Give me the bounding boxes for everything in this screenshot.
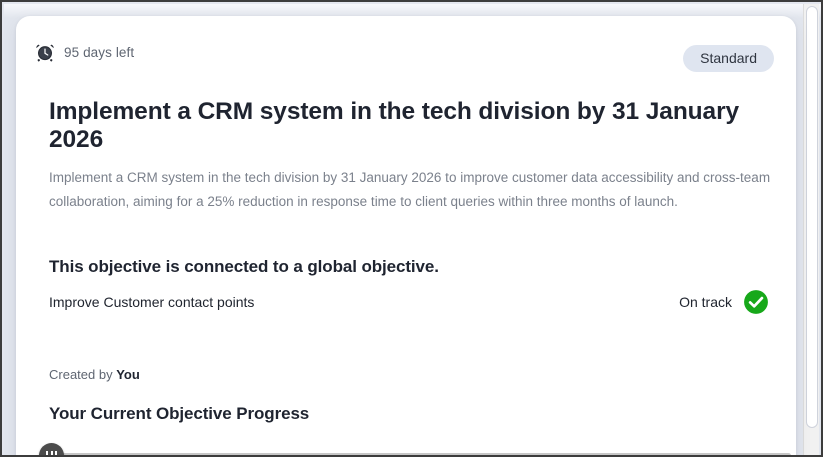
status-indicator: On track	[679, 289, 769, 315]
objective-card: 95 days left Standard Implement a CRM sy…	[16, 16, 796, 457]
linked-objective-name[interactable]: Improve Customer contact points	[49, 294, 254, 310]
status-label: On track	[679, 294, 732, 310]
vertical-scrollbar[interactable]	[803, 4, 819, 457]
progress-slider[interactable]: 0%25%50%75%100%	[49, 444, 791, 457]
card-header: 95 days left Standard	[35, 42, 774, 72]
plan-badge[interactable]: Standard	[683, 45, 774, 72]
created-by-prefix: Created by	[49, 367, 113, 382]
deadline-text: 95 days left	[64, 45, 134, 60]
grip-line	[51, 451, 53, 457]
alarm-clock-icon	[35, 42, 55, 62]
progress-heading: Your Current Objective Progress	[49, 404, 774, 424]
linked-objective-row: Improve Customer contact points On track	[49, 289, 774, 315]
deadline-indicator: 95 days left	[35, 42, 134, 62]
grip-line	[46, 451, 48, 457]
linked-objective-heading: This objective is connected to a global …	[49, 257, 774, 277]
grip-line	[55, 451, 57, 457]
scrollbar-thumb[interactable]	[806, 6, 818, 428]
created-by: Created by You	[49, 367, 774, 382]
slider-track[interactable]	[49, 453, 791, 457]
objective-description: Implement a CRM system in the tech divis…	[49, 166, 774, 212]
created-by-author: You	[116, 367, 140, 382]
check-circle-icon	[743, 289, 769, 315]
slider-handle[interactable]	[39, 443, 64, 457]
browser-window: 95 days left Standard Implement a CRM sy…	[0, 0, 823, 457]
objective-title: Implement a CRM system in the tech divis…	[49, 98, 774, 154]
